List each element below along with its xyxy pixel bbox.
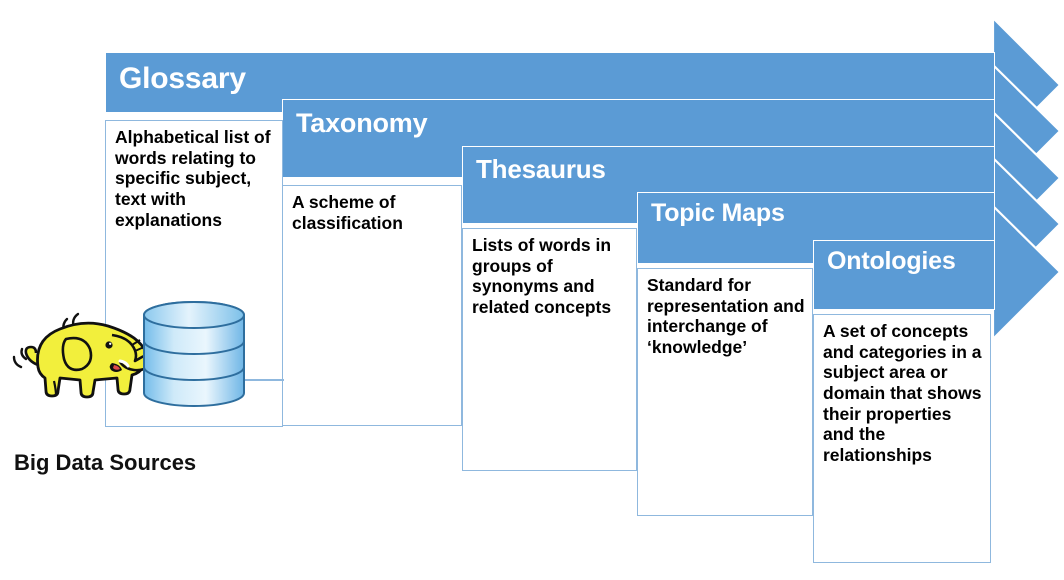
source-connector-line: [243, 379, 284, 381]
stage-description-thesaurus: Lists of words in groups of synonyms and…: [462, 228, 637, 471]
stage-label-topic-maps: Topic Maps: [651, 199, 785, 228]
stage-label-taxonomy: Taxonomy: [296, 108, 427, 139]
stage-label-thesaurus: Thesaurus: [476, 154, 606, 185]
stage-label-glossary: Glossary: [119, 62, 246, 96]
big-data-sources-caption: Big Data Sources: [14, 450, 196, 476]
diagram-canvas: Glossary Taxonomy Thesaurus Topic Maps O…: [0, 0, 1064, 580]
stage-description-ontologies: A set of concepts and categories in a su…: [813, 314, 991, 563]
stage-label-ontologies: Ontologies: [827, 247, 956, 276]
stage-description-taxonomy: A scheme of classification: [282, 185, 462, 426]
stage-description-topic-maps: Standard for representation and intercha…: [637, 268, 813, 516]
big-data-source-graphic: [8, 295, 248, 425]
database-cylinder-icon: [144, 302, 244, 406]
stage-description-text-ontologies: A set of concepts and categories in a su…: [823, 321, 984, 465]
stage-description-text-glossary: Alphabetical list of words relating to s…: [115, 127, 276, 230]
stage-description-text-thesaurus: Lists of words in groups of synonyms and…: [472, 235, 630, 318]
hadoop-elephant-icon: [14, 314, 151, 397]
stage-description-text-taxonomy: A scheme of classification: [292, 192, 455, 233]
stage-header-ontologies[interactable]: Ontologies: [813, 240, 995, 310]
stage-description-text-topic-maps: Standard for representation and intercha…: [647, 275, 806, 358]
